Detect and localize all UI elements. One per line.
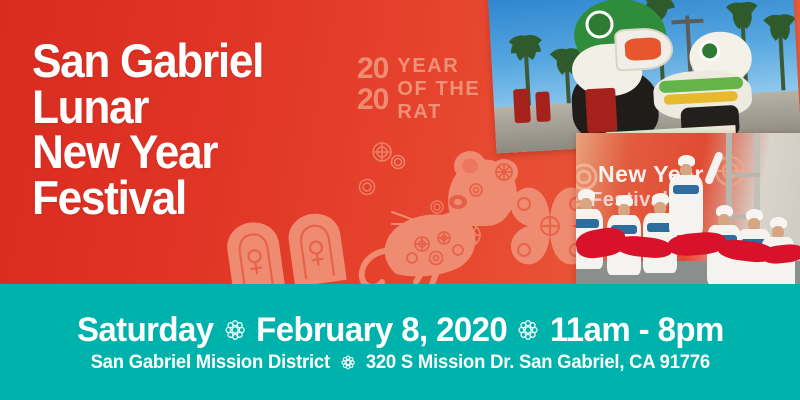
flower-rosette-icon — [340, 355, 355, 370]
title-line-4: Festival — [32, 175, 263, 221]
event-time: 11am - 8pm — [550, 311, 724, 350]
flower-ornament-cluster — [368, 140, 408, 174]
title-line-3: New Year — [32, 129, 263, 175]
flower-ornament-small-a — [356, 176, 378, 198]
year-of-the-rat-badge: 20 20 YEAR OF THE RAT — [357, 54, 480, 124]
flower-rosette-icon — [224, 319, 245, 341]
year-words: YEAR OF THE RAT — [397, 54, 480, 124]
hero-red-background: San Gabriel Lunar New Year Festival 20 2… — [0, 0, 800, 284]
lantern-ornament-left — [214, 212, 356, 284]
event-venue: San Gabriel Mission District — [90, 352, 329, 374]
title-line-2: Lunar — [32, 84, 263, 130]
lion-mouth-inner — [624, 37, 661, 61]
dancers-stage-photo: New Year Festival — [576, 133, 800, 284]
lion-sash — [585, 88, 617, 134]
stage-truss-cross — [726, 173, 760, 177]
event-poster: San Gabriel Lunar New Year Festival 20 2… — [0, 0, 800, 400]
banner-primary-line: Saturday February 8, 2020 — [77, 311, 724, 350]
event-day: Saturday — [77, 311, 213, 350]
flower-ornament-small-c — [452, 218, 486, 252]
year-number-top: 20 — [357, 54, 388, 85]
banner-secondary-line: San Gabriel Mission District 320 S Missi… — [90, 352, 709, 374]
poster-title: San Gabriel Lunar New Year Festival — [32, 38, 278, 220]
rat-zodiac-illustration — [352, 146, 524, 284]
lion-dance-photo — [488, 0, 800, 153]
year-numbers: 20 20 — [357, 54, 388, 115]
year-word-line-2: OF THE — [397, 78, 480, 101]
flower-rosette-icon — [517, 319, 538, 341]
performer — [535, 91, 551, 122]
event-date: February 8, 2020 — [256, 311, 507, 350]
performer — [513, 88, 531, 123]
flower-ornament-small-d — [428, 198, 446, 216]
event-address: 320 S Mission Dr. San Gabriel, CA 91776 — [366, 352, 710, 374]
year-word-line-3: RAT — [397, 101, 480, 124]
flower-ornament-small-b — [470, 170, 496, 196]
palm-tree — [765, 16, 797, 91]
year-number-bottom: 20 — [357, 85, 388, 116]
event-details-banner: Saturday February 8, 2020 — [0, 284, 800, 400]
year-word-line-1: YEAR — [397, 55, 480, 78]
title-line-1: San Gabriel — [32, 38, 263, 84]
